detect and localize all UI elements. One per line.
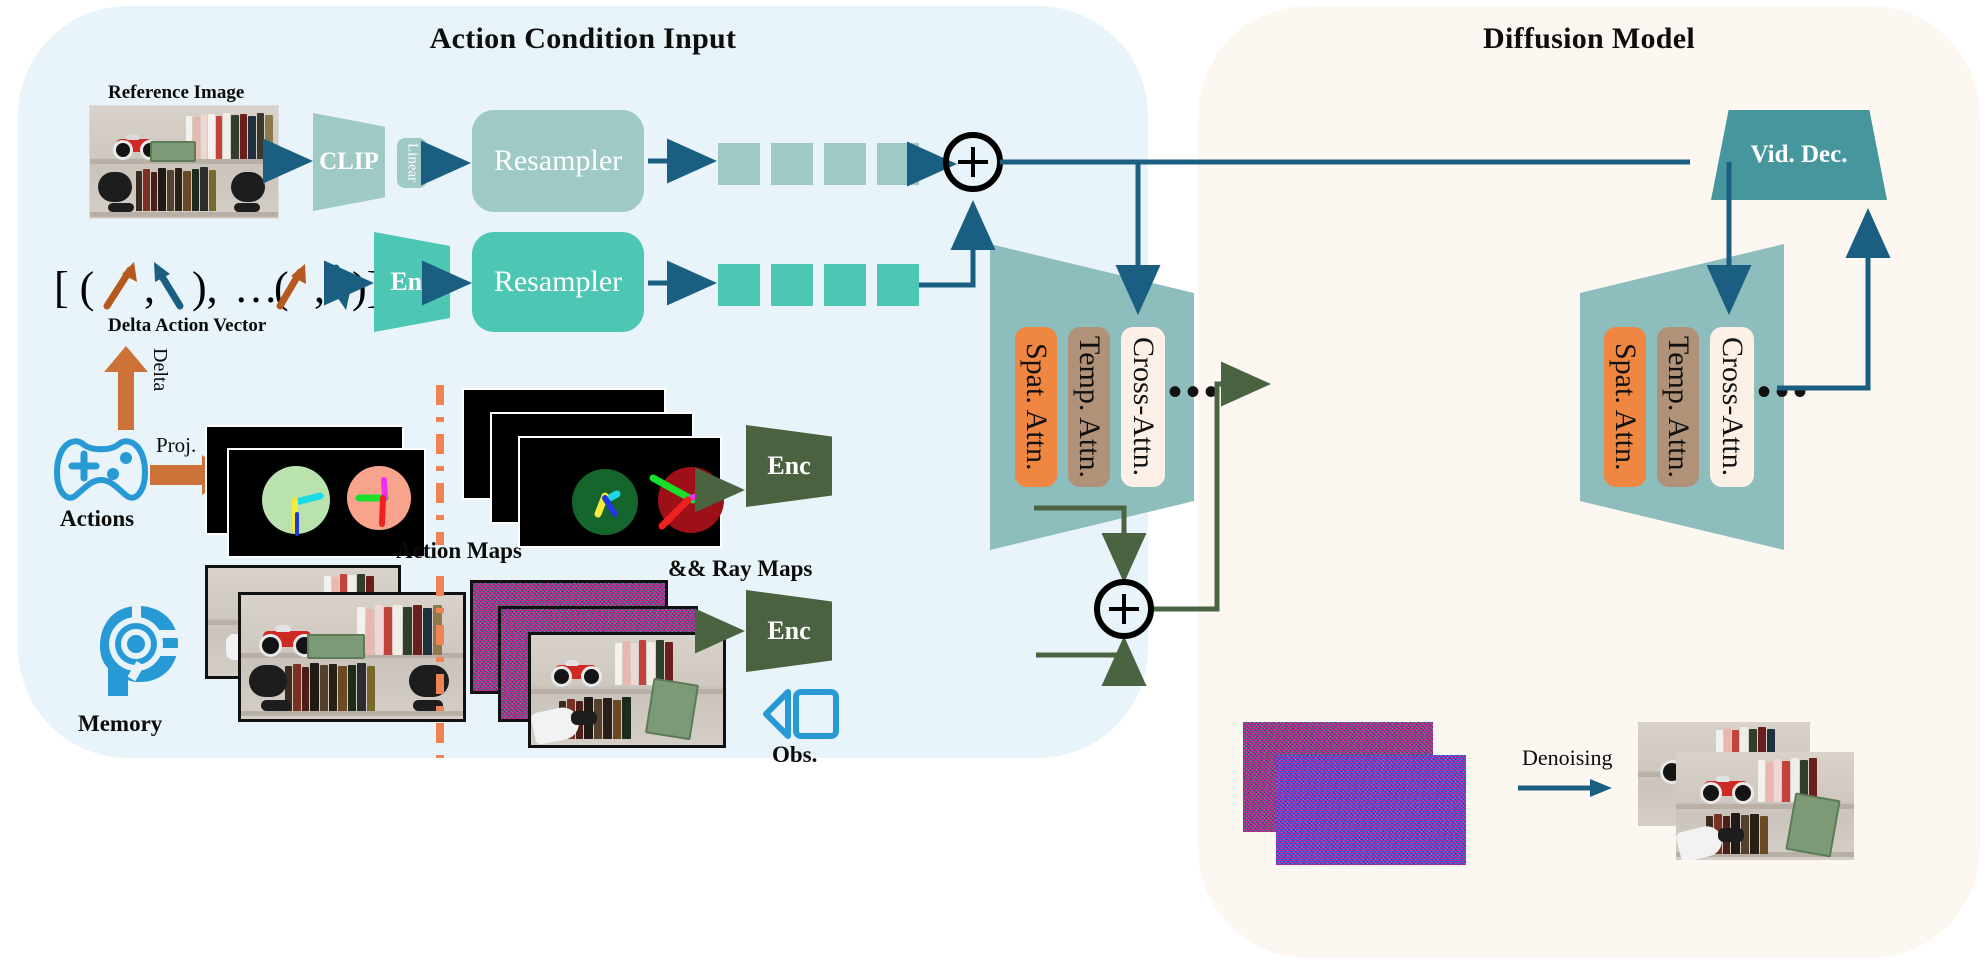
action-token-2 [771,264,813,306]
page-title-action-condition-input: Action Condition Input [18,22,1148,56]
svg-text:,: , [144,263,155,312]
svg-text:),: ), [192,263,218,312]
memory-head-icon [92,602,184,700]
action-token-1 [718,264,760,306]
delta-action-vector-label: Delta Action Vector [108,315,266,337]
obs-photo-front[interactable] [528,632,726,748]
delta-arrow-label: Delta [148,348,171,418]
image-token-2 [771,143,813,185]
actions-label: Actions [60,506,134,532]
temp-attn-label-1: Temp. Attn. [1072,336,1106,478]
action-map-vectors [229,450,424,556]
ray-map-frame-front[interactable] [518,436,722,548]
raymap-encoder-block[interactable]: Enc [746,425,832,507]
memory-label: Memory [78,711,162,737]
obs-label: Obs. [772,742,817,768]
video-decoder-block[interactable]: Vid. Dec. [1711,110,1887,200]
resampler-action-block[interactable]: Resampler [472,232,644,332]
ray-map-vectors [520,438,720,546]
action-maps-label: Action Maps [396,538,522,564]
unet-right-spatial-attn[interactable]: Spat. Attn. [1604,327,1646,487]
cross-attn-label-1: Cross-Attn. [1126,337,1160,476]
action-encoder-block[interactable]: Enc [374,232,450,332]
linear-projection-block[interactable]: Linear [397,138,427,188]
gamepad-icon [47,432,155,504]
camera-icon [760,686,840,742]
action-token-3 [824,264,866,306]
unet-left-ellipsis: ••• [1168,372,1222,412]
spat-attn-label-2: Spat. Attn. [1608,343,1642,471]
ray-maps-label: && Ray Maps [668,556,812,582]
resampler-action-label: Resampler [494,265,622,299]
denoising-arrow [1518,775,1614,801]
svg-text:,: , [314,263,325,312]
svg-text:…: … [234,263,278,312]
clip-label: CLIP [319,148,379,176]
denoise-input-front [1276,755,1466,865]
denoising-label: Denoising [1522,745,1612,771]
unet-right-temporal-attn[interactable]: Temp. Attn. [1657,327,1699,487]
obs-encoder-block[interactable]: Enc [746,590,832,672]
page-title-diffusion-model: Diffusion Model [1198,22,1980,56]
vid-dec-label: Vid. Dec. [1751,140,1848,170]
image-token-4 [877,143,919,185]
resampler-image-label: Resampler [494,144,622,178]
reference-image-photo [89,105,279,219]
separator-dashed-bottom [436,576,444,758]
clip-encoder-block[interactable]: CLIP [313,113,385,211]
unet-left-spatial-attn[interactable]: Spat. Attn. [1015,327,1057,487]
linear-label: Linear [397,138,427,188]
svg-text:[ (: [ ( [54,263,94,312]
obs-enc-label: Enc [767,616,810,646]
memory-photo-front[interactable] [238,592,466,722]
image-token-3 [824,143,866,185]
cross-attn-label-2: Cross-Attn. [1715,337,1749,476]
unet-left-temporal-attn[interactable]: Temp. Attn. [1068,327,1110,487]
temp-attn-label-2: Temp. Attn. [1661,336,1695,478]
action-enc-label: Enc [390,267,433,297]
raymap-enc-label: Enc [767,451,810,481]
separator-dashed-top [436,385,444,545]
resampler-image-block[interactable]: Resampler [472,110,644,212]
unet-left-cross-attn[interactable]: Cross-Attn. [1121,327,1165,487]
unet-right-cross-attn[interactable]: Cross-Attn. [1710,327,1754,487]
delta-arrow [96,344,156,430]
unet-right-ellipsis: ••• [1757,372,1811,412]
spat-attn-label-1: Spat. Attn. [1019,343,1053,471]
denoise-output-front[interactable] [1676,752,1854,860]
reference-image-label: Reference Image [108,82,244,104]
image-token-1 [718,143,760,185]
action-token-4 [877,264,919,306]
